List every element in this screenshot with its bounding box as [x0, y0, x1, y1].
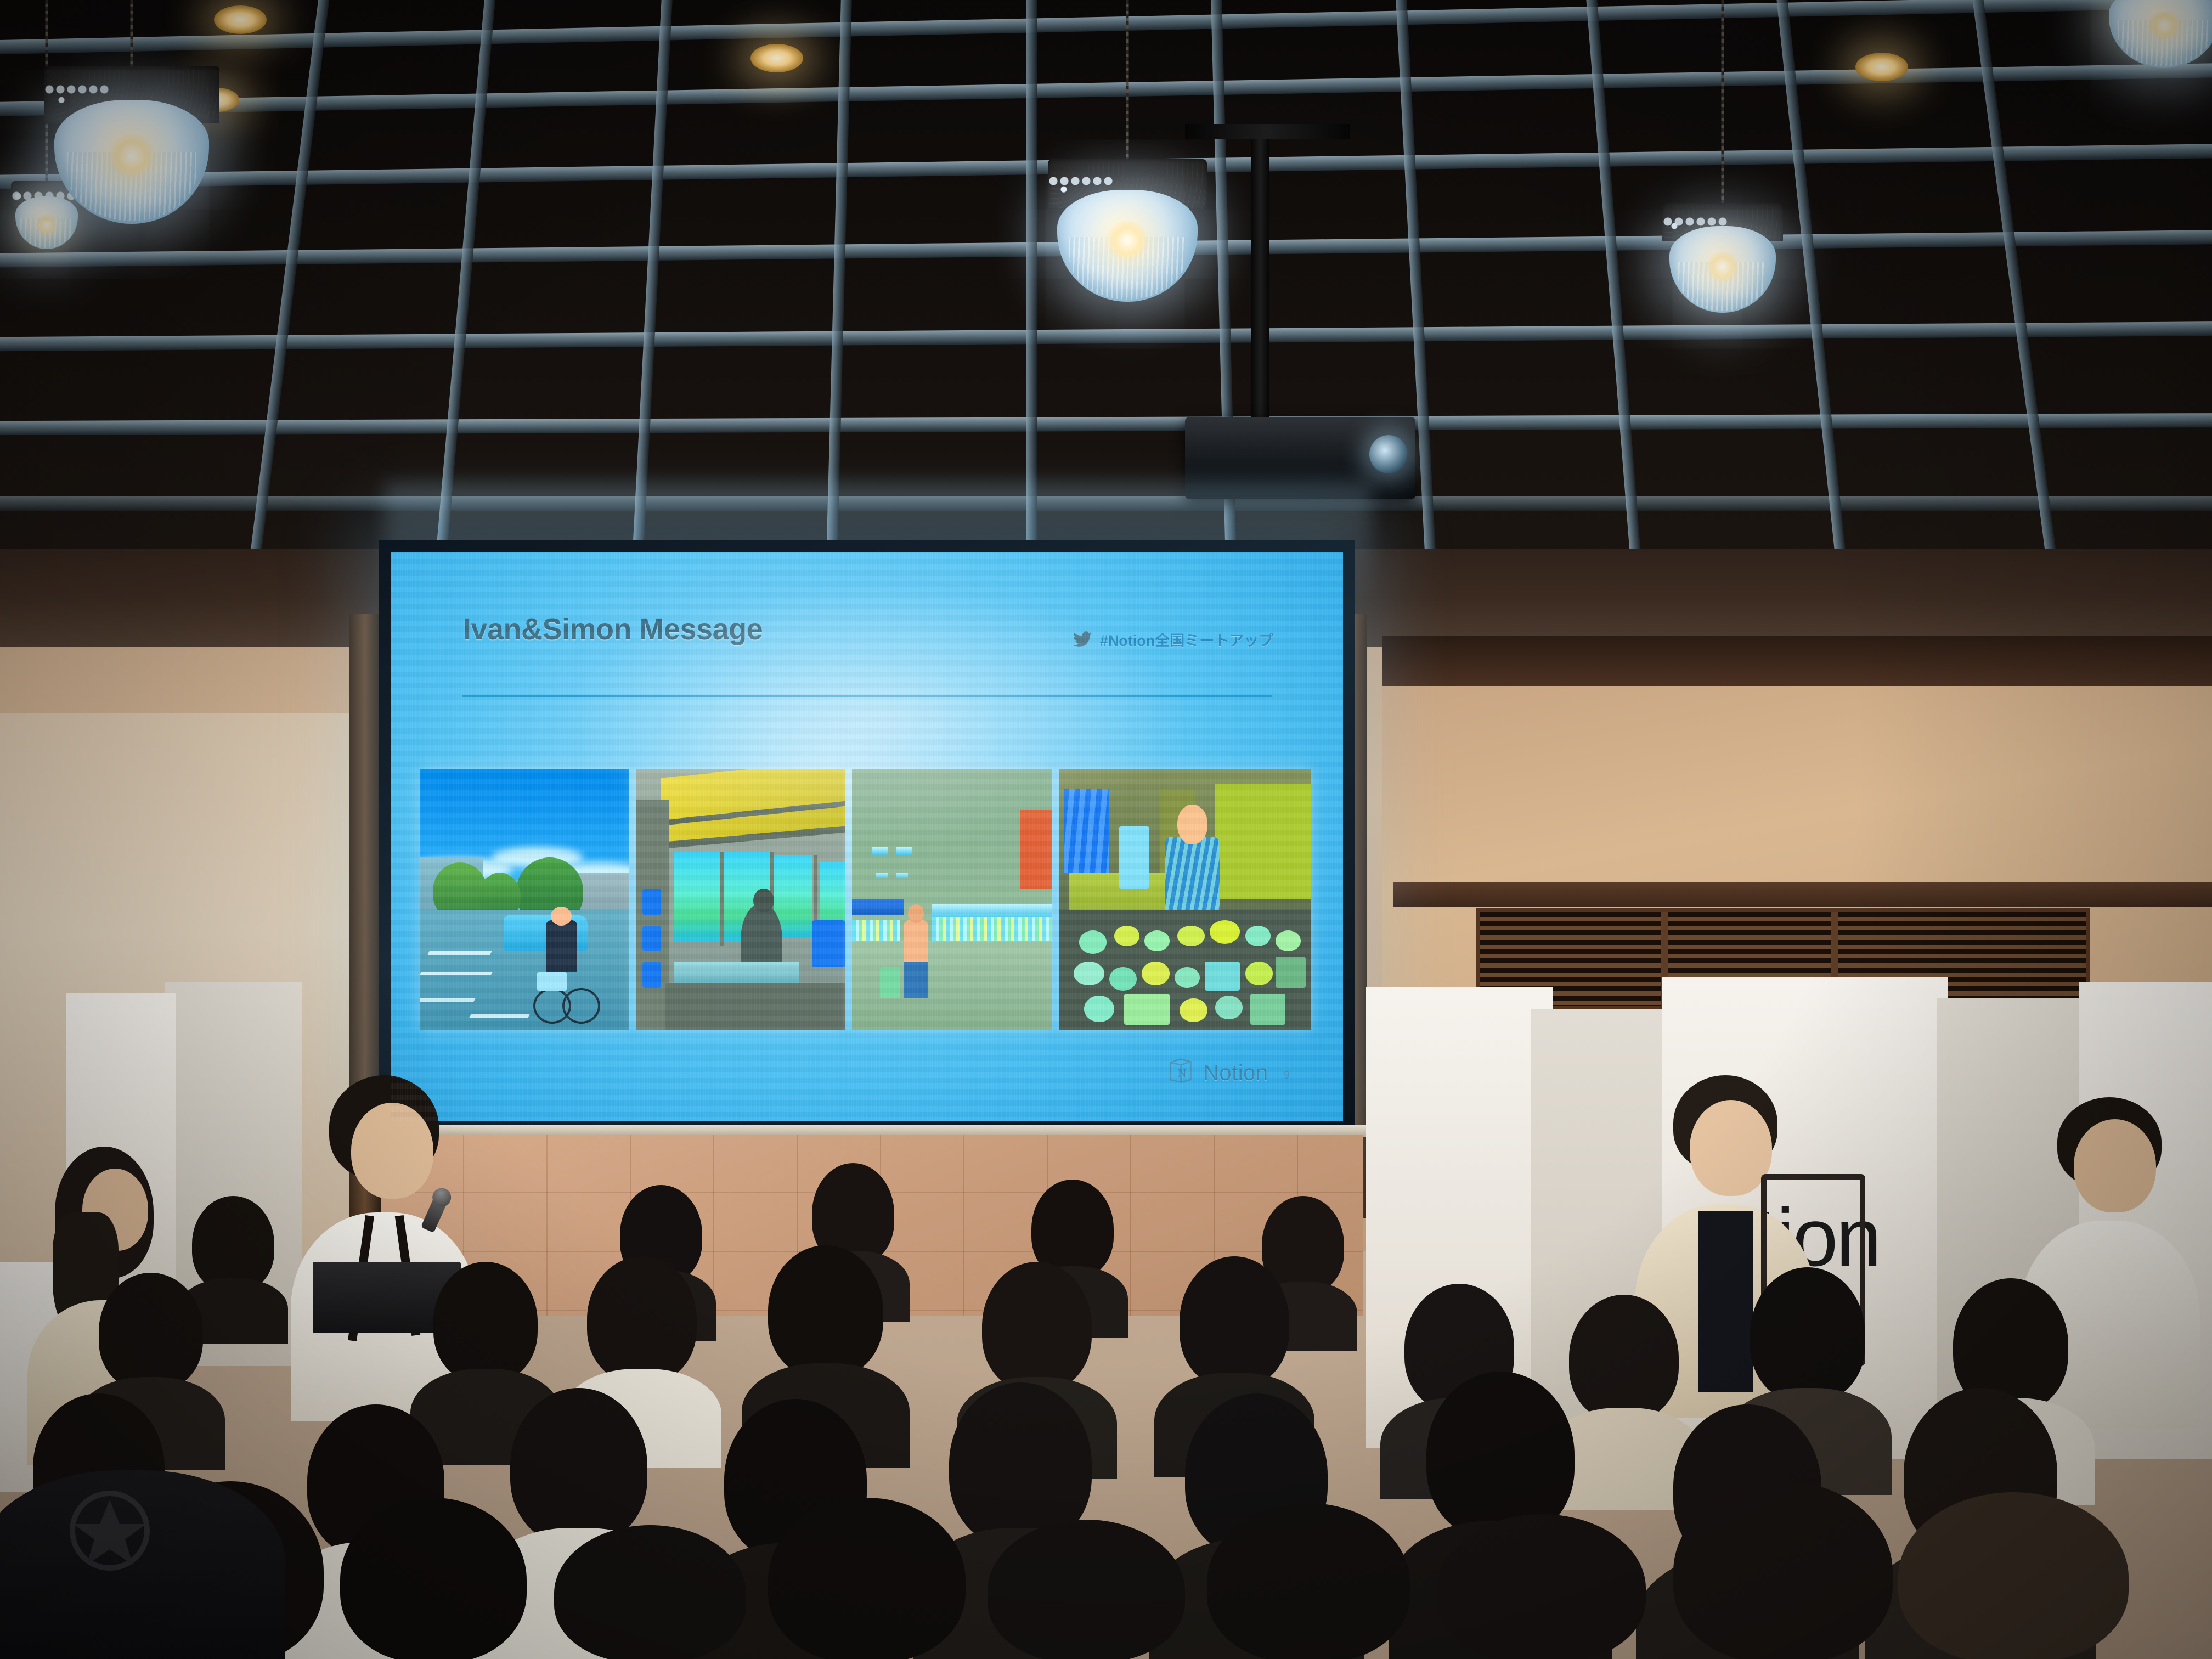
slide-hashtag-text: #Notion全国ミートアップ	[1100, 629, 1274, 650]
audience-head-foreground	[554, 1525, 746, 1659]
handheld-microphone[interactable]	[421, 1192, 449, 1233]
projector-mount-bracket	[1185, 124, 1350, 139]
audience-head-foreground	[1207, 1503, 1410, 1659]
pendant-lamp-top-right	[2101, 0, 2212, 77]
audience-head-foreground	[1437, 1514, 1646, 1659]
recessed-downlight	[1855, 53, 1908, 81]
slide-photo-cafe-interior	[636, 769, 845, 1030]
audience-head	[192, 1196, 274, 1317]
presentation-slide: Ivan&Simon Message #Notion全国ミートアップ	[391, 552, 1343, 1121]
audience-head-foreground	[988, 1520, 1185, 1659]
right-wall-beam	[1393, 882, 2212, 907]
slide-title: Ivan&Simon Message	[463, 612, 763, 646]
audience-beige-jacket-foreground	[181, 1536, 576, 1659]
slide-photo-yukata-meal	[1059, 769, 1311, 1030]
svg-text:N: N	[1178, 1066, 1186, 1080]
audience-head-foreground	[768, 1498, 966, 1659]
audience-head	[1569, 1295, 1679, 1476]
right-wall-upper-beam	[1383, 636, 2212, 686]
slide-hashtag: #Notion全国ミートアップ	[1071, 629, 1274, 650]
presentation-room-photo: Ivan&Simon Message #Notion全国ミートアップ	[0, 0, 2212, 1659]
inner-shirt	[1698, 1211, 1753, 1392]
notion-wordmark: Notion	[1203, 1062, 1268, 1084]
slide-page-number: 9	[1284, 1069, 1290, 1082]
notion-cube-icon: N	[1166, 1056, 1194, 1084]
pendant-lamp-center	[1048, 159, 1207, 313]
pendant-lamp-left	[44, 66, 219, 236]
slide-title-rule	[462, 695, 1272, 697]
slide-photo-cyclist	[420, 769, 629, 1030]
star-logo-icon	[55, 1476, 165, 1585]
twitter-bird-icon	[1071, 630, 1093, 648]
screen-surface: Ivan&Simon Message #Notion全国ミートアップ	[391, 552, 1343, 1121]
projector-lens	[1369, 435, 1408, 473]
audience-head-foreground	[1898, 1492, 2129, 1659]
slide-footer: N Notion 9	[1166, 1056, 1290, 1084]
projector-mount-pole	[1251, 129, 1269, 426]
recessed-downlight	[214, 5, 267, 34]
slide-photo-row	[420, 769, 1311, 1030]
projection-screen: Ivan&Simon Message #Notion全国ミートアップ	[379, 540, 1355, 1133]
audience-head-foreground	[1673, 1481, 1893, 1659]
slide-photo-supermarket	[852, 769, 1052, 1030]
recessed-downlight	[751, 44, 803, 72]
pendant-lamp-right	[1662, 203, 1783, 324]
